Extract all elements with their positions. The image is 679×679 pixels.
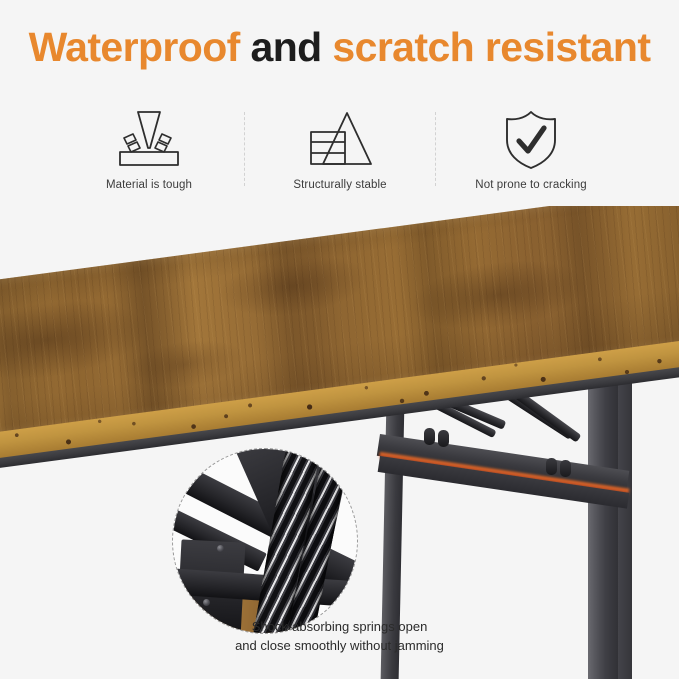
magnified-rivet xyxy=(203,599,210,606)
magnified-rivet xyxy=(217,545,224,552)
magnifier-callout xyxy=(172,448,358,634)
page-title: Waterproof and scratch resistant xyxy=(0,24,679,71)
feature-label: Not prone to cracking xyxy=(475,179,586,191)
caption-line-2: and close smoothly without jamming xyxy=(0,637,679,656)
shield-check-icon xyxy=(494,108,568,170)
feature-label: Structurally stable xyxy=(293,179,386,191)
feature-divider-2 xyxy=(435,112,436,186)
magnifier-content xyxy=(173,449,357,633)
headline-part-waterproof: Waterproof xyxy=(29,24,240,70)
layered-triangle-icon xyxy=(303,108,377,170)
feature-item-structurally-stable: Structurally stable xyxy=(251,108,429,191)
product-photo xyxy=(0,206,679,679)
feature-label: Material is tough xyxy=(106,179,192,191)
product-feature-banner: Waterproof and scratch resistant Materia… xyxy=(0,0,679,679)
magnifier-caption: Shock-absorbing springs open and close s… xyxy=(0,618,679,656)
feature-item-not-prone-cracking: Not prone to cracking xyxy=(442,108,620,191)
headline-part-and: and xyxy=(251,24,322,70)
headline-part-scratch-resistant: scratch resistant xyxy=(332,24,650,70)
impact-wedge-icon xyxy=(112,108,186,170)
feature-item-material-tough: Material is tough xyxy=(60,108,238,191)
caption-line-1: Shock-absorbing springs open xyxy=(0,618,679,637)
feature-divider-1 xyxy=(244,112,245,186)
feature-list: Material is tough Structurally stable xyxy=(60,108,620,196)
